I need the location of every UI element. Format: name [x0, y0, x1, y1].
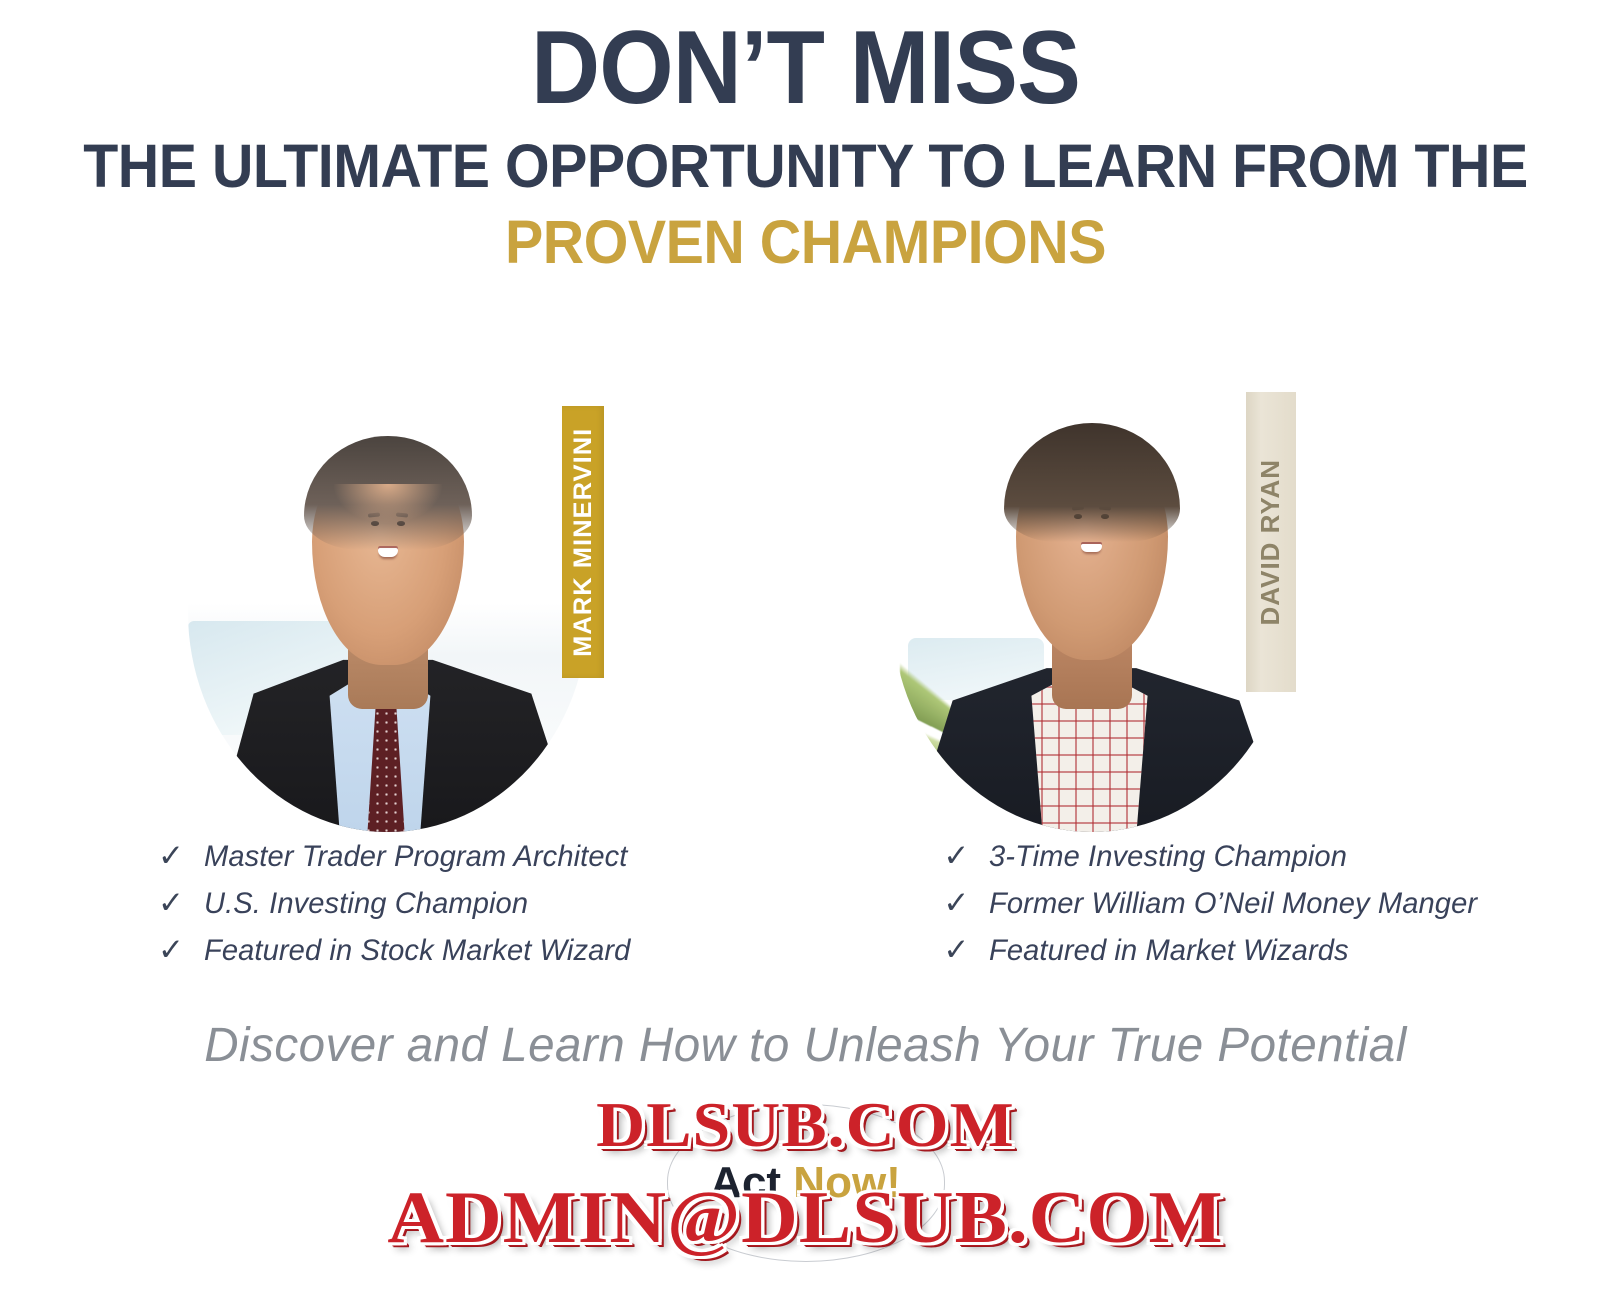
- cta-label-part-now: Now!: [793, 1158, 901, 1207]
- credential-label: U.S. Investing Champion: [204, 887, 528, 921]
- name-banner-david-ryan: DAVID RYAN: [1246, 392, 1296, 692]
- credential-label: Featured in Stock Market Wizard: [204, 934, 630, 968]
- checkmark-icon: ✓: [158, 935, 204, 966]
- name-banner-mark-minervini: MARK MINERVINI: [562, 406, 604, 678]
- checkmark-icon: ✓: [158, 888, 204, 919]
- portrait-photo-mark-minervini: [188, 392, 588, 832]
- credentials-section: ✓ Master Trader Program Architect ✓ U.S.…: [0, 840, 1611, 981]
- speaker-name-label: DAVID RYAN: [1255, 459, 1286, 626]
- credentials-list-david-ryan: ✓ 3-Time Investing Champion ✓ Former Wil…: [881, 840, 1611, 981]
- tagline: Discover and Learn How to Unleash Your T…: [8, 1018, 1603, 1073]
- cta-label-part-act: Act: [710, 1158, 793, 1207]
- portrait-wrap-mark-minervini: MARK MINERVINI: [188, 370, 618, 840]
- list-item: ✓ Featured in Market Wizards: [943, 934, 1611, 981]
- list-item: ✓ Former William O’Neil Money Manger: [943, 887, 1611, 934]
- list-item: ✓ Master Trader Program Architect: [158, 840, 881, 887]
- speaker-name-label: MARK MINERVINI: [569, 427, 598, 656]
- headline-block: DON’T MISS THE ULTIMATE OPPORTUNITY TO L…: [0, 0, 1611, 278]
- list-item: ✓ U.S. Investing Champion: [158, 887, 881, 934]
- headline-line-secondary: THE ULTIMATE OPPORTUNITY TO LEARN FROM T…: [48, 130, 1562, 202]
- portrait-photo-david-ryan: [892, 392, 1292, 832]
- credential-label: Former William O’Neil Money Manger: [989, 887, 1477, 921]
- credential-label: Master Trader Program Architect: [204, 840, 627, 874]
- checkmark-icon: ✓: [943, 841, 989, 872]
- list-item: ✓ 3-Time Investing Champion: [943, 840, 1611, 887]
- credentials-list-mark-minervini: ✓ Master Trader Program Architect ✓ U.S.…: [0, 840, 881, 981]
- credential-label: 3-Time Investing Champion: [989, 840, 1347, 874]
- credential-label: Featured in Market Wizards: [989, 934, 1349, 968]
- portrait-smile: [1081, 544, 1102, 552]
- checkmark-icon: ✓: [158, 841, 204, 872]
- act-now-button-label: Act Now!: [710, 1158, 901, 1208]
- cta-section: Act Now!: [0, 1104, 1611, 1262]
- checkmark-icon: ✓: [943, 888, 989, 919]
- act-now-button[interactable]: Act Now!: [667, 1104, 945, 1262]
- headline-line-primary: DON’T MISS: [64, 14, 1546, 122]
- list-item: ✓ Featured in Stock Market Wizard: [158, 934, 881, 981]
- headline-line-accent: PROVEN CHAMPIONS: [48, 206, 1562, 278]
- checkmark-icon: ✓: [943, 935, 989, 966]
- portrait-wrap-david-ryan: DAVID RYAN: [892, 370, 1322, 840]
